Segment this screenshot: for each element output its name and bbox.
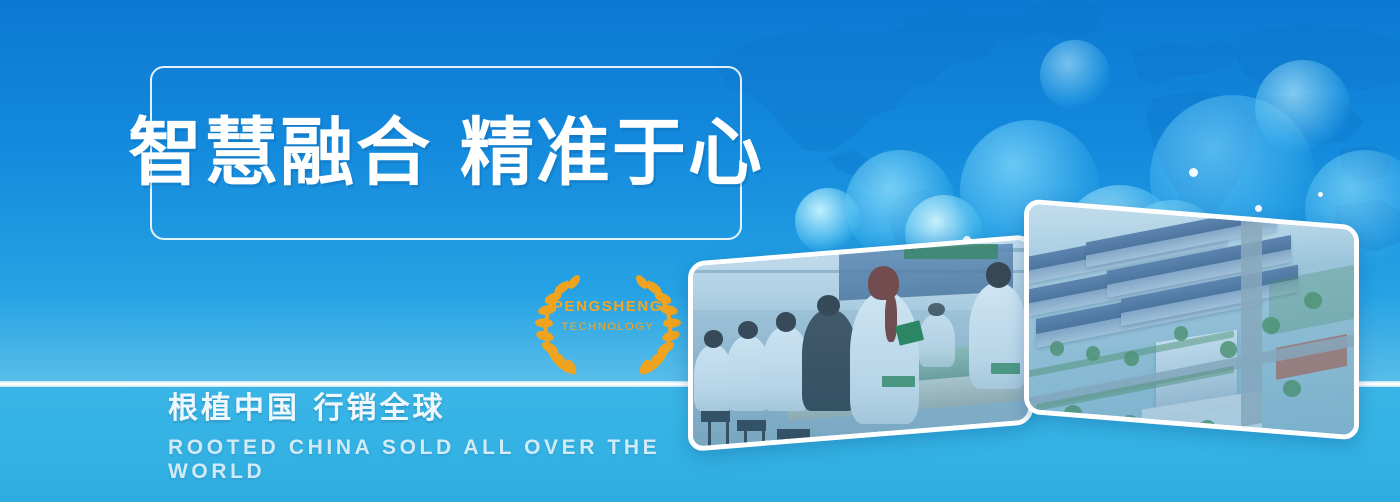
photo-factory-aerial[interactable] <box>1024 199 1359 441</box>
stool <box>777 429 810 442</box>
wall-sign <box>904 244 998 259</box>
glow-dot <box>1189 168 1198 177</box>
worker-head <box>776 312 797 331</box>
campus-road <box>1241 217 1262 427</box>
worker-head <box>928 303 945 317</box>
worker-head <box>704 330 723 347</box>
photo-production-line-content <box>688 235 1033 452</box>
photo-factory-aerial-content <box>1024 199 1359 440</box>
circuit-board <box>991 363 1020 374</box>
tree <box>1086 346 1100 361</box>
tagline-chinese: 根植中国 行销全球 <box>168 392 728 425</box>
page-title: 智慧融合 精准于心 <box>128 116 764 190</box>
factory-interior-illustration <box>688 235 1033 452</box>
circuit-board <box>882 376 915 387</box>
worker-head <box>817 295 841 316</box>
tree <box>1174 326 1188 341</box>
tagline-english: ROOTED CHINA SOLD ALL OVER THE WORLD <box>168 436 728 484</box>
promo-banner: 智慧融合 精准于心 <box>0 0 1400 502</box>
factory-campus-illustration <box>1024 199 1359 440</box>
tree <box>1283 380 1301 397</box>
worker-head <box>986 262 1012 287</box>
laurel-wreath-icon: PENGSHENG TECHNOLOGY <box>528 272 688 377</box>
worker-figure-back <box>919 314 955 367</box>
glow-dot <box>1255 205 1262 212</box>
tree <box>1050 341 1064 356</box>
tree <box>1124 351 1138 366</box>
worker-figure-dark-jacket <box>802 310 856 411</box>
glow-dot <box>1318 192 1323 197</box>
worker-head <box>738 321 758 339</box>
worker-head-ponytail <box>868 266 900 300</box>
worker-figure-center <box>850 292 919 424</box>
worker-ponytail <box>885 295 896 343</box>
stool <box>737 420 766 431</box>
tagline: 根植中国 行销全球 ROOTED CHINA SOLD ALL OVER THE… <box>168 392 728 484</box>
photo-production-line[interactable] <box>688 234 1033 452</box>
headline-box: 智慧融合 精准于心 <box>150 66 742 240</box>
tree <box>1262 317 1280 334</box>
